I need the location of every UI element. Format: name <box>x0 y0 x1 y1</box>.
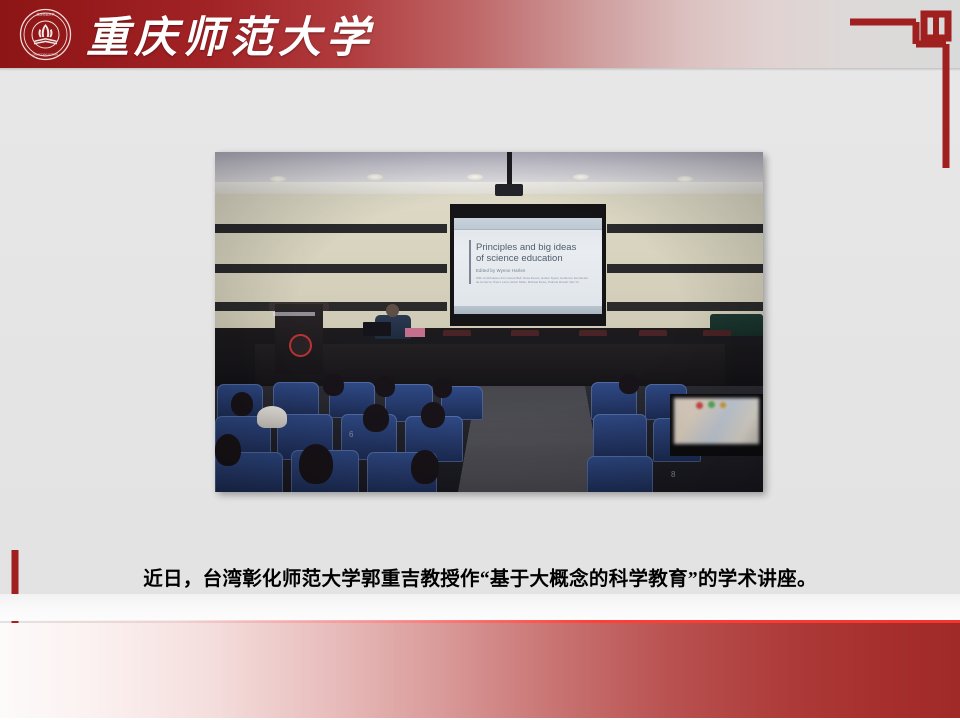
photo-wall-strip <box>607 224 763 233</box>
photo-seat-number: 8 <box>671 470 675 479</box>
photo-audience-head <box>375 376 395 397</box>
photo-projection-screen: Principles and big ideas of science educ… <box>450 204 606 326</box>
photo-wall-strip <box>215 224 447 233</box>
photo-monitor-highlight <box>720 402 726 408</box>
bottom-white-strip <box>0 594 960 621</box>
photo-audience-head <box>231 392 253 416</box>
photo-pink-bag <box>405 328 425 337</box>
photo-wall-strip <box>607 302 763 311</box>
photo-slide-title-line2: of science education <box>476 253 594 264</box>
photo-audience-head <box>299 444 333 484</box>
photo-slide-title: Principles and big ideas of science educ… <box>476 242 594 264</box>
photo-monitor-highlight <box>696 402 703 409</box>
lecture-photo: Principles and big ideas of science educ… <box>215 152 763 492</box>
photo-ceiling-light <box>367 174 383 180</box>
photo-audience-head <box>433 378 452 398</box>
photo-taskbar <box>454 306 602 314</box>
photo-wall-strip <box>215 302 447 311</box>
photo-slide-title-line1: Principles and big ideas <box>476 242 594 253</box>
photo-projector-icon <box>495 184 523 196</box>
photo-seat-number: 6 <box>349 430 353 439</box>
photo-ceiling-light <box>270 176 286 182</box>
photo-wall-strip <box>607 264 763 273</box>
slide-caption: 近日，台湾彰化师范大学郭重吉教授作“基于大概念的科学教育”的学术讲座。 <box>0 562 960 591</box>
photo-speaker-head <box>386 304 399 317</box>
photo-monitor-highlight <box>708 401 715 408</box>
photo-wall-strip <box>215 264 447 273</box>
presentation-slide: 重庆师范大学 CHONGQING NORMAL 重庆师范大学 <box>0 0 960 720</box>
photo-audience-head <box>215 434 241 466</box>
svg-text:CHONGQING NORMAL: CHONGQING NORMAL <box>33 54 60 57</box>
photo-ceiling-light <box>677 176 693 182</box>
svg-text:重庆师范大学: 重庆师范大学 <box>36 12 54 17</box>
photo-audience-head <box>411 450 439 484</box>
photo-projector-mount <box>507 152 512 186</box>
photo-slide-accent-bar <box>469 240 471 284</box>
photo-browser-bar <box>454 218 602 230</box>
photo-podium-label <box>273 312 315 316</box>
photo-audience-head-with-cap <box>257 406 287 428</box>
photo-audience-head <box>421 402 445 428</box>
photo-side-monitor-image <box>674 398 759 444</box>
photo-slide-body: With contributions from Derek Bell, Rosa… <box>476 276 592 285</box>
photo-laptop-icon <box>363 322 391 336</box>
photo-audience-head <box>363 404 389 432</box>
photo-seat <box>587 456 653 492</box>
photo-ceiling-light <box>573 174 589 180</box>
photo-side-monitor <box>670 394 763 456</box>
photo-ceiling-light <box>467 174 483 180</box>
photo-podium-seal-icon <box>289 334 312 357</box>
photo-audience-head <box>323 374 344 396</box>
university-seal-icon: 重庆师范大学 CHONGQING NORMAL <box>19 8 72 61</box>
photo-slide-subtitle: Edited by Wynne Harlen <box>476 268 526 273</box>
photo-seat <box>593 414 647 460</box>
bottom-band <box>0 623 960 720</box>
university-name-title: 重庆师范大学 <box>86 6 374 62</box>
header-shadow <box>0 68 960 71</box>
photo-audience-head <box>619 374 639 394</box>
